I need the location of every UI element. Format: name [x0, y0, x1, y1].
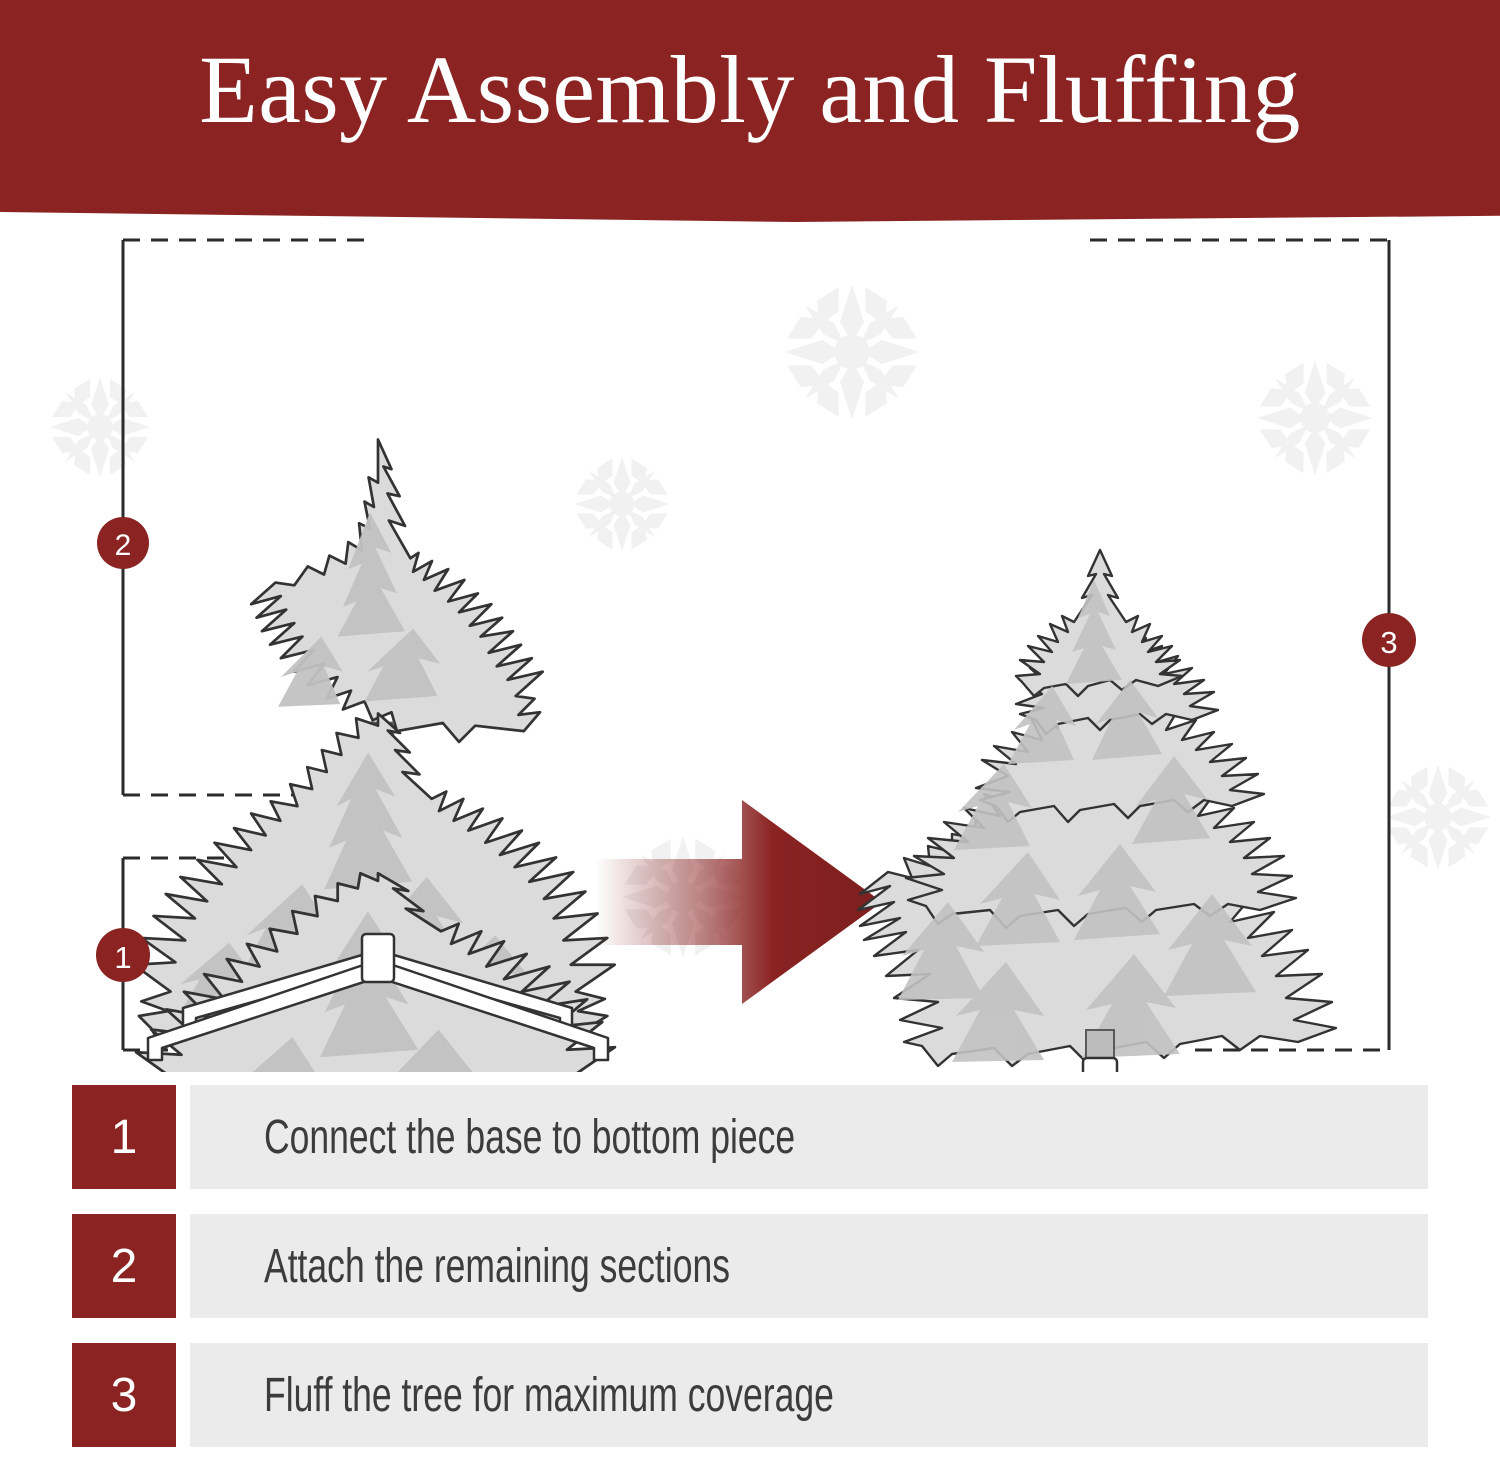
step-text-panel: Connect the base to bottom piece: [190, 1085, 1428, 1189]
arrow-right-icon: [595, 800, 882, 1004]
marker-3-label: 3: [1380, 625, 1397, 660]
marker-2-label: 2: [115, 529, 132, 562]
step-number-badge: 3: [72, 1343, 176, 1447]
snowflake-icon: [50, 377, 150, 477]
transition-arrow-group: [595, 800, 882, 1004]
page-title: Easy Assembly and Fluffing: [199, 42, 1301, 138]
tree-top-section: [251, 440, 543, 769]
step-row: 1 Connect the base to bottom piece: [0, 1085, 1500, 1189]
step-text-panel: Fluff the tree for maximum coverage: [190, 1343, 1428, 1447]
header-banner: Easy Assembly and Fluffing: [0, 0, 1500, 222]
step-number-badge: 1: [72, 1085, 176, 1189]
step-text: Attach the remaining sections: [190, 1239, 730, 1294]
snowflake-icon: [785, 285, 920, 420]
assembly-diagram: 2 1 3: [0, 222, 1500, 1072]
step-number-badge: 2: [72, 1214, 176, 1318]
assembled-tree-group: [858, 550, 1336, 1072]
step-text-panel: Attach the remaining sections: [190, 1214, 1428, 1318]
step-text: Connect the base to bottom piece: [190, 1110, 795, 1165]
marker-1: 1: [96, 928, 150, 982]
snowflake-icon: [1386, 765, 1491, 870]
snowflake-icon: [1258, 361, 1373, 476]
assembly-steps-list: 1 Connect the base to bottom piece 2 Att…: [0, 1085, 1500, 1447]
step-row: 2 Attach the remaining sections: [0, 1214, 1500, 1318]
assembled-tree: [858, 550, 1336, 1072]
marker-3: 3: [1362, 613, 1416, 667]
disassembled-tree-group: [118, 440, 635, 1073]
snowflake-icon: [575, 457, 670, 552]
marker-1-label: 1: [114, 940, 131, 975]
marker-2: 2: [97, 517, 149, 569]
stand-pole: [1083, 1058, 1117, 1072]
stand-pole: [362, 934, 394, 982]
step-row: 3 Fluff the tree for maximum coverage: [0, 1343, 1500, 1447]
step-text: Fluff the tree for maximum coverage: [190, 1368, 834, 1423]
